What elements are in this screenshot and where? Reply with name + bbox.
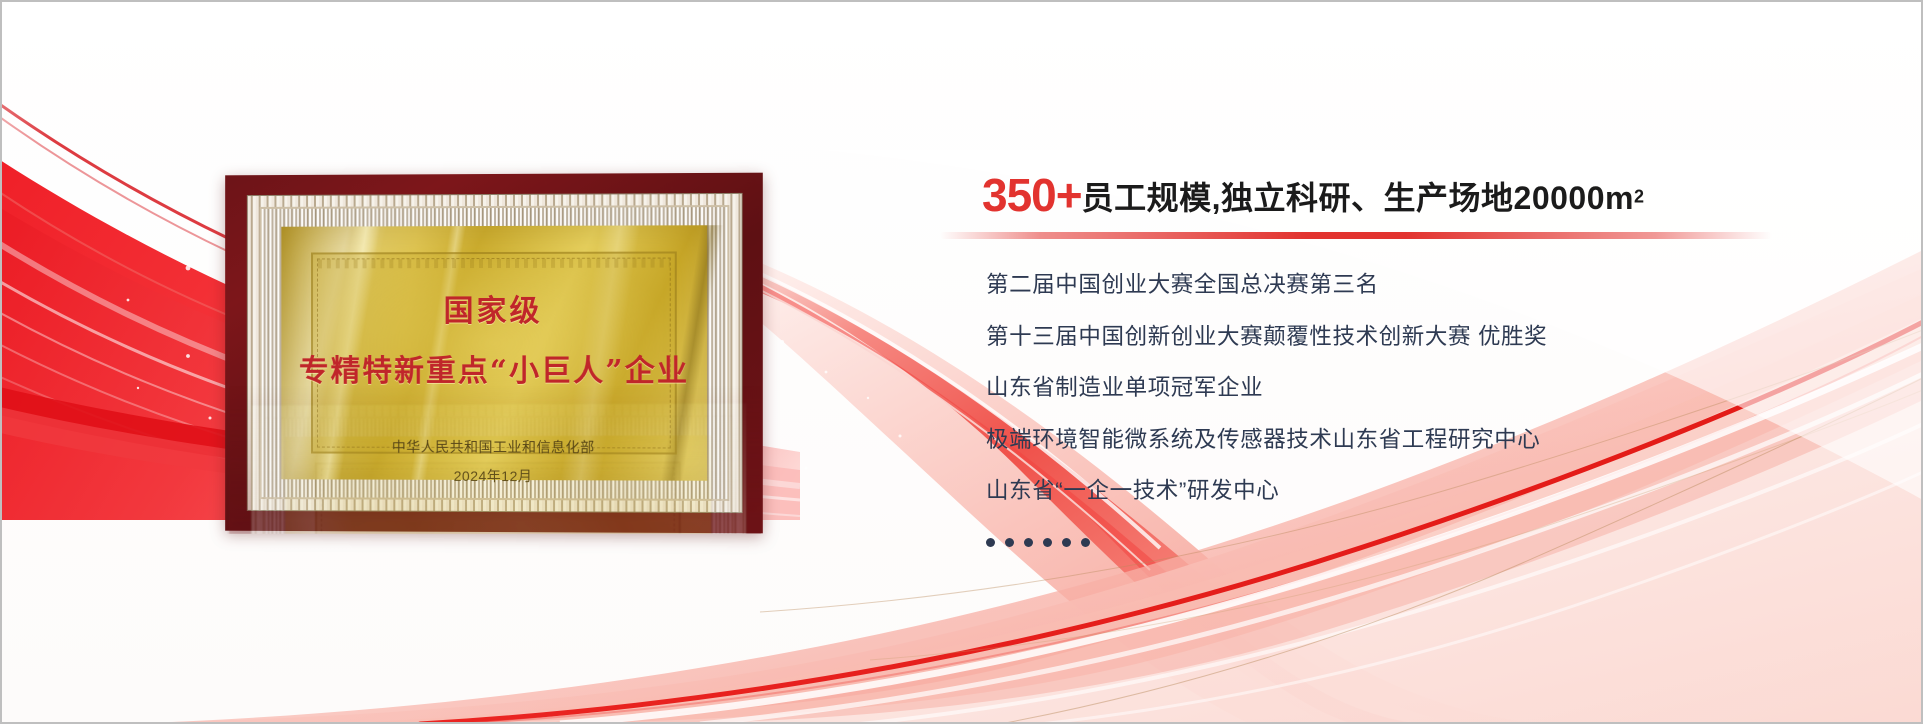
reflection-frame (229, 384, 761, 534)
list-item: 极端环境智能微系统及传感器技术山东省工程研究中心 (986, 429, 1846, 452)
canvas-edge-top (0, 0, 1923, 2)
list-item: 第十三届中国创新创业大赛颠覆性技术创新大赛 优胜奖 (986, 326, 1846, 349)
reflection-inner-panel (315, 461, 681, 534)
ellipsis-dot (986, 538, 995, 547)
list-item: 山东省制造业单项冠军企业 (986, 377, 1846, 400)
plaque-reflection-body (227, 384, 761, 534)
headline: 350+员工规模,独立科研、生产场地20000m2 (982, 168, 1644, 222)
ellipsis-dot (1062, 538, 1071, 547)
reflection-border-inner (264, 415, 734, 534)
reflection-border-outer (251, 403, 747, 534)
headline-number: 350+ (982, 169, 1082, 221)
ellipsis-dot (1043, 538, 1052, 547)
ellipsis-dots (986, 532, 1846, 547)
plaque-reflection (227, 384, 761, 534)
list-item: 第二届中国创业大赛全国总决赛第三名 (986, 274, 1846, 297)
headline-underline (940, 232, 1772, 239)
headline-text: 员工规模,独立科研、生产场地20000m (1082, 180, 1634, 216)
ellipsis-dot (1081, 538, 1090, 547)
plaque-title-line1: 国家级 (444, 286, 543, 330)
banner-stage: 国家级 专精特新重点“小巨人”企业 中华人民共和国工业和信息化部 2024年12… (0, 0, 1923, 724)
ellipsis-dot (1024, 538, 1033, 547)
award-list: 第二届中国创业大赛全国总决赛第三名 第十三届中国创新创业大赛颠覆性技术创新大赛 … (986, 274, 1846, 547)
canvas-edge-left (0, 0, 2, 724)
ellipsis-dot (1005, 538, 1014, 547)
list-item: 山东省“一企一技术”研发中心 (986, 480, 1846, 503)
headline-superscript: 2 (1634, 187, 1644, 207)
reflection-gold-face (285, 435, 711, 534)
